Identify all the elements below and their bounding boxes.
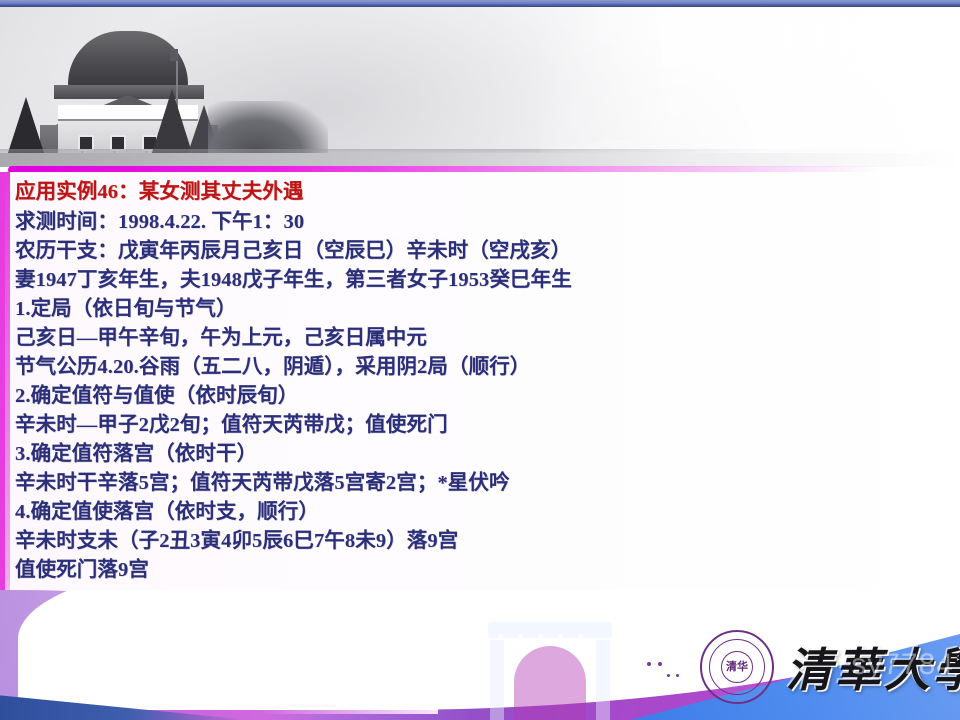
tsinghua-gate-illustration [470, 616, 630, 720]
gate-ornament-dot [538, 634, 543, 639]
wechat-icon [636, 652, 692, 692]
wechat-bubble-small [658, 665, 689, 691]
flag [170, 49, 178, 61]
wechat-eye [647, 662, 651, 666]
wechat-eye [676, 674, 679, 677]
slide-content-panel: 应用实例46：某女测其丈夫外遇 求测时间：1998.4.22. 下午1：30 农… [0, 172, 960, 632]
header-campus-photo [0, 7, 960, 159]
banner-white-dome [18, 590, 438, 714]
tsinghua-seal-icon: 清华 [700, 630, 774, 704]
watermark-label: sy7784 [851, 648, 954, 682]
seal-center-text: 清华 [721, 651, 753, 683]
content-line-2: 农历干支：戊寅年丙辰月己亥日（空辰巳）辛未时（空戌亥） [15, 237, 960, 266]
content-line-5: 己亥日—甲午辛旬，午为上元，己亥日属中元 [15, 324, 960, 353]
gate-column [596, 640, 610, 720]
content-line-4: 1.定局（依日旬与节气） [15, 295, 960, 324]
header-grey-shelf [0, 153, 960, 167]
top-border-rule [0, 0, 960, 7]
content-line-12: 辛未时支未（子2丑3寅4卯5辰6巳7午8未9）落9宫 [15, 527, 960, 556]
wechat-eye [667, 674, 670, 677]
content-line-11: 4.确定值使落宫（依时支，顺行） [15, 498, 960, 527]
gate-ornament-dot [578, 634, 583, 639]
footer-brand-banner: 清华 清華大學 sy7784 [0, 590, 960, 720]
content-line-10: 辛未时干辛落5宫；值符天芮带戊落5宫寄2宫；*星伏吟 [15, 469, 960, 498]
content-line-7: 2.确定值符与值使（依时辰旬） [15, 382, 960, 411]
content-line-9: 3.确定值符落宫（依时干） [15, 440, 960, 469]
content-line-8: 辛未时—甲子2戊2旬；值符天芮带戊；值使死门 [15, 411, 960, 440]
gate-ornament-dot [498, 634, 503, 639]
content-line-1: 求测时间：1998.4.22. 下午1：30 [15, 208, 960, 237]
gate-archway [514, 646, 586, 720]
content-line-13: 值使死门落9宫 [15, 556, 960, 585]
gate-ornament-dot [518, 634, 523, 639]
gate-lintel [488, 622, 612, 638]
content-line-6: 节气公历4.20.谷雨（五二八，阴遁），采用阴2局（顺行） [15, 353, 960, 382]
gate-ornament-dot [558, 634, 563, 639]
photo-white-fade [540, 7, 960, 159]
slide-title: 应用实例46：某女测其丈夫外遇 [15, 178, 960, 208]
content-line-3: 妻1947丁亥年生，夫1948戊子年生，第三者女子1953癸巳年生 [15, 266, 960, 295]
gate-column [490, 640, 504, 720]
wechat-eye [658, 662, 662, 666]
